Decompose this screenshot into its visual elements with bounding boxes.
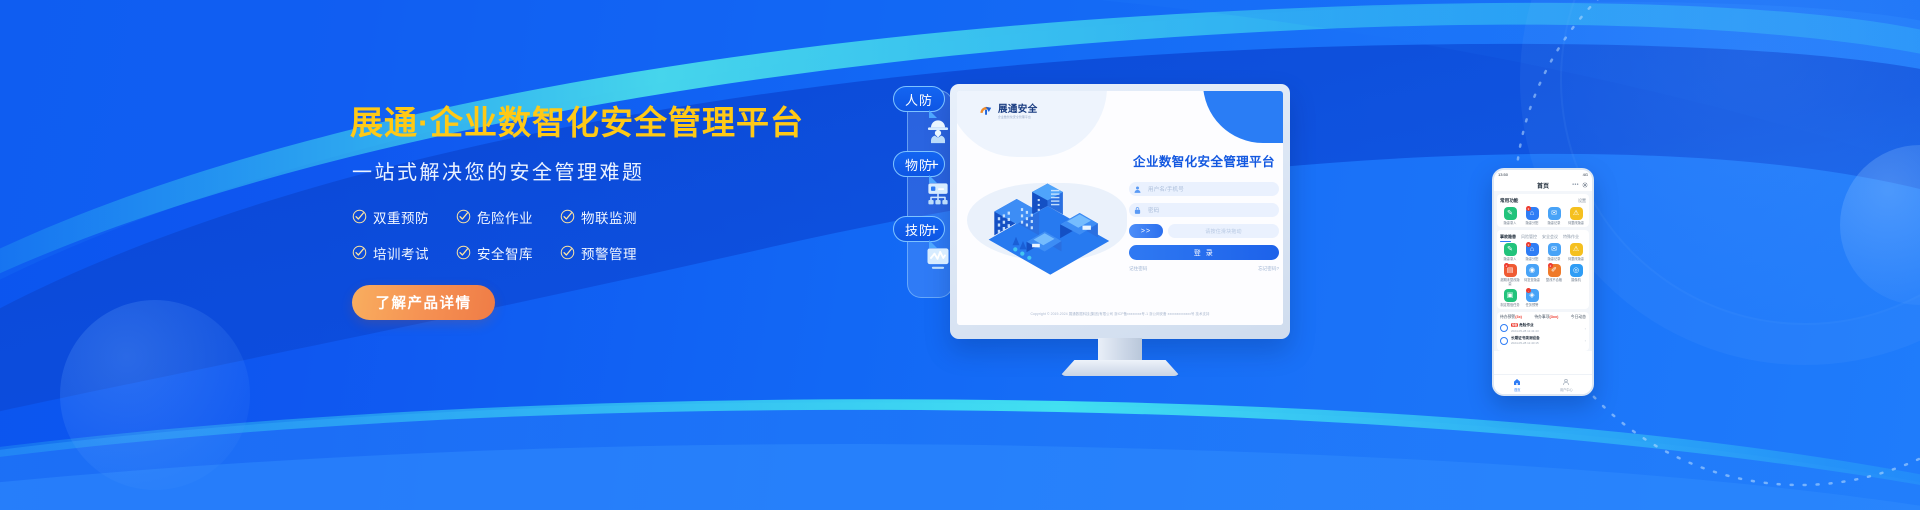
page-title: 展通·企业数智化安全管理平台: [350, 104, 820, 142]
app-tile-label: 隐患记录: [1548, 222, 1561, 226]
todo-list-card: 待办预警(3x) 待办事项(3xx) 今日动态 预警危险作业 2024-05-2…: [1497, 312, 1589, 351]
gear-icon[interactable]: [1582, 182, 1588, 188]
hero-copy: 展通·企业数智化安全管理平台 一站式解决您的安全管理难题 双重预防 危险作业: [350, 104, 820, 320]
defense-badge-panel: 人防 物防 技防 + +: [893, 72, 953, 302]
app-logo: 展通安全 企业数智化安全管理平台: [979, 104, 1038, 119]
app-tile[interactable]: ▣ 制定限值任务: [1500, 289, 1520, 307]
app-tile[interactable]: ⌂ 3 隐患分配: [1522, 207, 1542, 225]
app-tile-label: 制定限值任务: [1500, 304, 1519, 308]
quick-functions-grid: ✎ 隐患录入 ⌂ 3 隐患分配 ✉ 隐患记录 ⚠ 待整改隐患: [1500, 207, 1586, 225]
forgot-password-link[interactable]: 忘记密码?: [1258, 266, 1279, 272]
app-tile[interactable]: ◎ 摄像机: [1566, 264, 1586, 286]
login-submit-button[interactable]: 登 录: [1129, 245, 1279, 260]
app-logo-name: 展通安全: [998, 105, 1038, 115]
todo-list-headers: 待办预警(3x) 待办事项(3xx) 今日动态: [1500, 315, 1586, 320]
app-tile[interactable]: ✎ 隐患录入: [1500, 207, 1520, 225]
app-tile[interactable]: ⌂ 3 隐患分配: [1522, 243, 1542, 261]
todo-header-warning[interactable]: 待办预警(3x): [1500, 315, 1522, 320]
todo-header-tasks[interactable]: 待办事项(3xx): [1534, 315, 1558, 320]
home-icon: [1513, 378, 1521, 386]
app-tile[interactable]: ◉ 待复查隐患: [1522, 264, 1542, 286]
tab-fengxian-guankong[interactable]: 风险管控: [1521, 234, 1537, 240]
circle-icon: [1500, 337, 1508, 345]
app-tile-label: 超期未整改隐患: [1500, 279, 1520, 286]
check-circle-icon: [456, 245, 471, 260]
app-tile-icon: ⚠: [1570, 243, 1583, 256]
feature-item: 安全智库: [456, 243, 560, 263]
hard-hat-worker-icon: [924, 116, 952, 144]
tab-anquan-huiyi[interactable]: 安全会议: [1542, 234, 1558, 240]
app-tile-label: 隐患分配: [1526, 258, 1539, 262]
feature-item: 双重预防: [352, 207, 456, 227]
app-tile-icon: ✎: [1504, 243, 1517, 256]
tab-shigu-yinhuan[interactable]: 事故隐患: [1500, 234, 1516, 240]
check-circle-icon: [560, 245, 575, 260]
status-time: 13:50: [1498, 172, 1508, 177]
desktop-monitor-mockup: 展通安全 企业数智化安全管理平台: [950, 84, 1290, 339]
list-item[interactable]: 长期证书类测设备 2024-05-28 11:40:15 ›: [1500, 336, 1586, 346]
list-item-title: 预警危险作业: [1511, 323, 1582, 328]
app-tile-label: 摄像机: [1571, 279, 1581, 283]
status-signal: 4G: [1583, 172, 1588, 177]
check-circle-icon: [352, 245, 367, 260]
app-tile-label: 隐患分配: [1526, 222, 1539, 226]
phone-content: 常用功能 设置 ✎ 隐患录入 ⌂ 3 隐患分配 ✉ 隐患记录: [1494, 191, 1592, 351]
list-item-time: 2024-05-28 11:40:15: [1511, 341, 1582, 345]
app-tile-icon: ✉: [1548, 243, 1561, 256]
app-logo-tagline: 企业数智化安全管理平台: [998, 116, 1038, 119]
copyright-text: Copyright © 2019-2024 展通数据科技(集团)有限公司 浙IC…: [957, 311, 1283, 316]
monitor-pulse-icon: [924, 244, 952, 272]
quick-functions-header: 常用功能 设置: [1500, 198, 1586, 204]
app-tile-label: 整改不合格: [1546, 279, 1562, 283]
lock-icon: [1133, 206, 1142, 215]
feature-item: 物联监测: [560, 207, 637, 227]
app-tile-label: 待整改隐患: [1568, 222, 1584, 226]
app-tile[interactable]: ✎ 隐患录入: [1500, 243, 1520, 261]
username-placeholder: 用户名/手机号: [1148, 185, 1184, 193]
app-tile[interactable]: ⚠ 待整改隐患: [1566, 243, 1586, 261]
check-circle-icon: [352, 209, 367, 224]
app-tile-label: 待整改隐患: [1568, 258, 1584, 262]
phone-nav-title: 首页: [1537, 181, 1549, 190]
chevron-right-icon: ›: [1585, 338, 1586, 343]
badge-renfang[interactable]: 人防: [893, 86, 945, 112]
username-field[interactable]: 用户名/手机号: [1129, 182, 1279, 196]
feature-item: 预警管理: [560, 243, 637, 263]
app-tile[interactable]: ✉ 隐患记录: [1544, 243, 1564, 261]
list-item[interactable]: 预警危险作业 2024-05-28 11:41:43 ›: [1500, 323, 1586, 333]
login-form: 企业数智化安全管理平台 用户名/手机号 密码: [1129, 151, 1279, 272]
password-field[interactable]: 密码: [1129, 203, 1279, 217]
captcha-handle[interactable]: >>: [1129, 224, 1163, 238]
list-item-text: 长期证书类测设备 2024-05-28 11:40:15: [1511, 336, 1582, 346]
tab-user-center[interactable]: 用户中心: [1560, 378, 1573, 392]
zhantong-logo-icon: [979, 104, 994, 119]
check-circle-icon: [560, 209, 575, 224]
isometric-city-icon: [975, 171, 1120, 276]
modules-grid: ✎ 隐患录入 ⌂ 3 隐患分配 ✉ 隐患记录 ⚠ 待整改隐患: [1500, 243, 1586, 307]
app-tile-label: 隐患录入: [1504, 258, 1517, 262]
module-tabs: 事故隐患 风险管控 安全会议 特殊作业: [1500, 234, 1586, 240]
app-tile-icon: ✎: [1504, 207, 1517, 220]
learn-more-button[interactable]: 了解产品详情: [352, 285, 495, 320]
app-tile[interactable]: ✐ 2 整改不合格: [1544, 264, 1564, 286]
password-placeholder: 密码: [1148, 206, 1159, 214]
tab-home[interactable]: 首页: [1513, 378, 1521, 392]
check-circle-icon: [456, 209, 471, 224]
feature-label: 双重预防: [373, 207, 429, 227]
feature-label: 物联监测: [581, 207, 637, 227]
modules-card: 事故隐患 风险管控 安全会议 特殊作业 ✎ 隐患录入 ⌂ 3 隐患分配: [1497, 230, 1589, 309]
app-tile[interactable]: ▤ 2 超期未整改隐患: [1500, 264, 1520, 286]
feature-label: 危险作业: [477, 207, 533, 227]
list-item-time: 2024-05-28 11:41:43: [1511, 329, 1582, 333]
phone-tab-bar: 首页 用户中心: [1494, 374, 1592, 394]
remember-password-link[interactable]: 记住密码: [1129, 266, 1147, 272]
feature-list: 双重预防 危险作业 物联监测: [352, 207, 652, 279]
app-tile-icon: ✉: [1548, 207, 1561, 220]
phone-nav-dots[interactable]: •••: [1572, 182, 1579, 188]
tab-home-label: 首页: [1514, 387, 1520, 392]
feature-label: 培训考试: [373, 243, 429, 263]
todo-header-today[interactable]: 今日动态: [1571, 315, 1586, 320]
plus-operator-2: +: [929, 221, 939, 238]
badge-label: 人防: [905, 90, 933, 109]
login-title: 企业数智化安全管理平台: [1129, 151, 1279, 170]
app-tile-label: 隐患录入: [1504, 222, 1517, 226]
badge-count: 3: [1526, 206, 1531, 211]
mobile-phone-mockup: 13:50 4G 首页 ••• 常用功能 设置 ✎ 隐患录入: [1492, 168, 1594, 396]
monitor-screen: 展通安全 企业数智化安全管理平台: [957, 91, 1283, 325]
list-item-tag: 预警: [1511, 323, 1518, 327]
decor-circle-left: [60, 300, 250, 490]
captcha-track: 请按住滑块拖动: [1168, 224, 1279, 238]
app-tile[interactable]: ✉ 隐患记录: [1544, 207, 1564, 225]
tab-user-center-label: 用户中心: [1560, 387, 1573, 392]
app-tile[interactable]: ◈ - 任务预警: [1522, 289, 1542, 307]
list-item-title: 长期证书类测设备: [1511, 336, 1582, 341]
page-subtitle: 一站式解决您的安全管理难题: [352, 156, 820, 185]
login-meta: 记住密码 忘记密码?: [1129, 266, 1279, 272]
feature-item: 培训考试: [352, 243, 456, 263]
user-icon: [1562, 378, 1570, 386]
app-tile-label: 待复查隐患: [1524, 279, 1540, 283]
circle-icon: [1500, 324, 1508, 332]
hero-banner: 展通·企业数智化安全管理平台 一站式解决您的安全管理难题 双重预防 危险作业: [0, 0, 1920, 510]
app-tile-label: 隐患记录: [1548, 258, 1561, 262]
device-network-icon: [924, 179, 952, 207]
list-item-text: 预警危险作业 2024-05-28 11:41:43: [1511, 323, 1582, 333]
app-tile-icon: ▣: [1504, 289, 1517, 302]
feature-label: 预警管理: [581, 243, 637, 263]
user-icon: [1133, 185, 1142, 194]
captcha-slider[interactable]: >> 请按住滑块拖动: [1129, 224, 1279, 238]
quick-functions-title: 常用功能: [1500, 198, 1518, 204]
app-tile-icon: ⚠: [1570, 207, 1583, 220]
app-tile-icon: ◉: [1526, 264, 1539, 277]
feature-label: 安全智库: [477, 243, 533, 263]
phone-nav-bar: 首页 •••: [1494, 179, 1592, 191]
quick-functions-card: 常用功能 设置 ✎ 隐患录入 ⌂ 3 隐患分配 ✉ 隐患记录: [1497, 194, 1589, 227]
quick-functions-action[interactable]: 设置: [1578, 198, 1586, 204]
chevron-right-icon: ›: [1585, 326, 1586, 331]
monitor-frame: 展通安全 企业数智化安全管理平台: [950, 84, 1290, 339]
app-logo-text: 展通安全 企业数智化安全管理平台: [998, 105, 1038, 119]
tab-teshu-zuoye[interactable]: 特殊作业: [1563, 234, 1579, 240]
app-tile-label: 任务预警: [1526, 304, 1539, 308]
phone-status-bar: 13:50 4G: [1494, 170, 1592, 179]
app-tile-icon: ◎: [1570, 264, 1583, 277]
app-tile[interactable]: ⚠ 待整改隐患: [1566, 207, 1586, 225]
plus-operator-1: +: [929, 156, 939, 173]
monitor-stand-base: [1060, 360, 1180, 376]
feature-item: 危险作业: [456, 207, 560, 227]
